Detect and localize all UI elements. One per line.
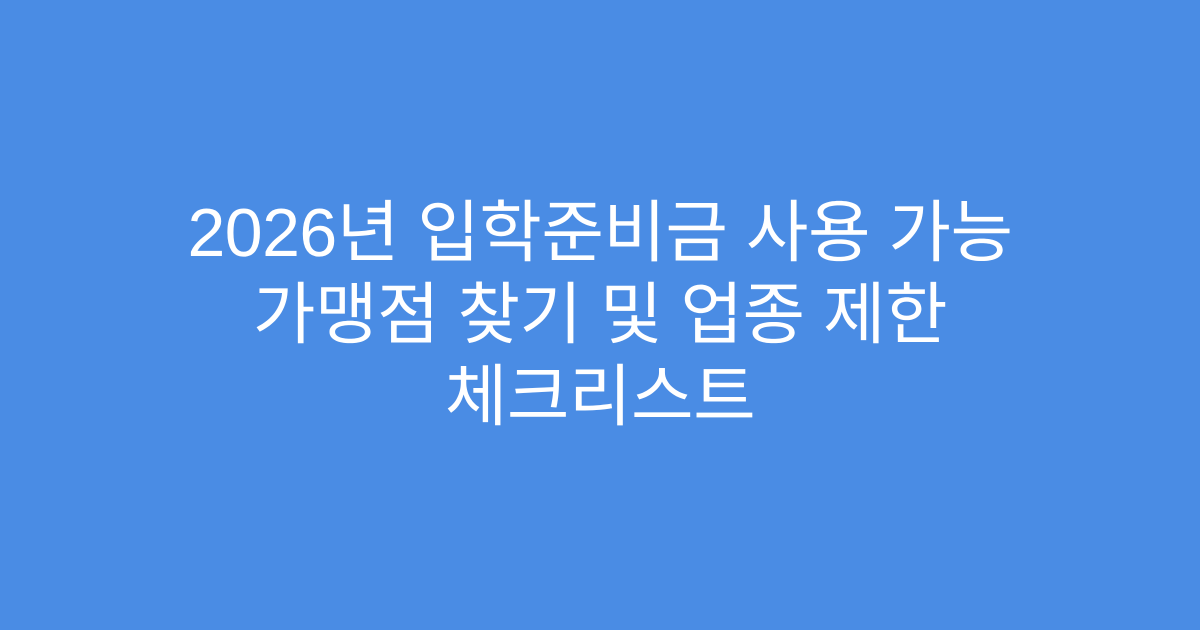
page-title: 2026년 입학준비금 사용 가능 가맹점 찾기 및 업종 제한 체크리스트 <box>80 192 1120 438</box>
og-banner-card: 2026년 입학준비금 사용 가능 가맹점 찾기 및 업종 제한 체크리스트 <box>0 0 1200 630</box>
title-block: 2026년 입학준비금 사용 가능 가맹점 찾기 및 업종 제한 체크리스트 <box>80 192 1120 438</box>
